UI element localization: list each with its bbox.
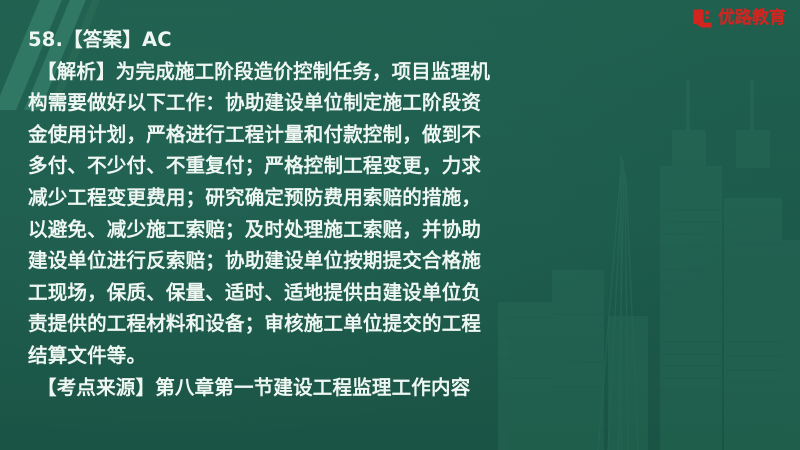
explanation-line-8: 工现场，保质、保量、适时、适地提供由建设单位负 — [28, 277, 520, 309]
explanation-line-6: 以避免、减少施工索赔；及时处理施工索赔，并协助 — [28, 214, 520, 246]
explanation-line-7: 建设单位进行反索赔；协助建设单位按期提交合格施 — [28, 245, 520, 277]
brand-logo[interactable]: 优路教育 — [692, 6, 786, 30]
explanation-line-4: 多付、不少付、不重复付；严格控制工程变更，力求 — [28, 150, 520, 182]
explanation-line-1: 【解析】为完成施工阶段造价控制任务，项目监理机 — [28, 56, 520, 88]
slide-text-body: 58.【答案】AC 【解析】为完成施工阶段造价控制任务，项目监理机 构需要做好以… — [28, 24, 520, 403]
explanation-line-3: 金使用计划，严格进行工程计量和付款控制，做到不 — [28, 119, 520, 151]
explanation-line-5: 减少工程变更费用；研究确定预防费用索赔的措施， — [28, 182, 520, 214]
explanation-line-9: 责提供的工程材料和设备；审核施工单位提交的工程 — [28, 308, 520, 340]
city-skyline-watermark — [490, 70, 800, 450]
explanation-line-10: 结算文件等。 — [28, 340, 520, 372]
source-line: 【考点来源】第八章第一节建设工程监理工作内容 — [28, 372, 520, 404]
explanation-line-2: 构需要做好以下工作：协助建设单位制定施工阶段资 — [28, 87, 520, 119]
youlu-logo-icon — [692, 8, 713, 29]
question-answer-line: 58.【答案】AC — [28, 24, 520, 56]
brand-name: 优路教育 — [718, 10, 786, 27]
slide-canvas: 优路教育 58.【答案】AC 【解析】为完成施工阶段造价控制任务，项目监理机 构… — [0, 0, 800, 450]
